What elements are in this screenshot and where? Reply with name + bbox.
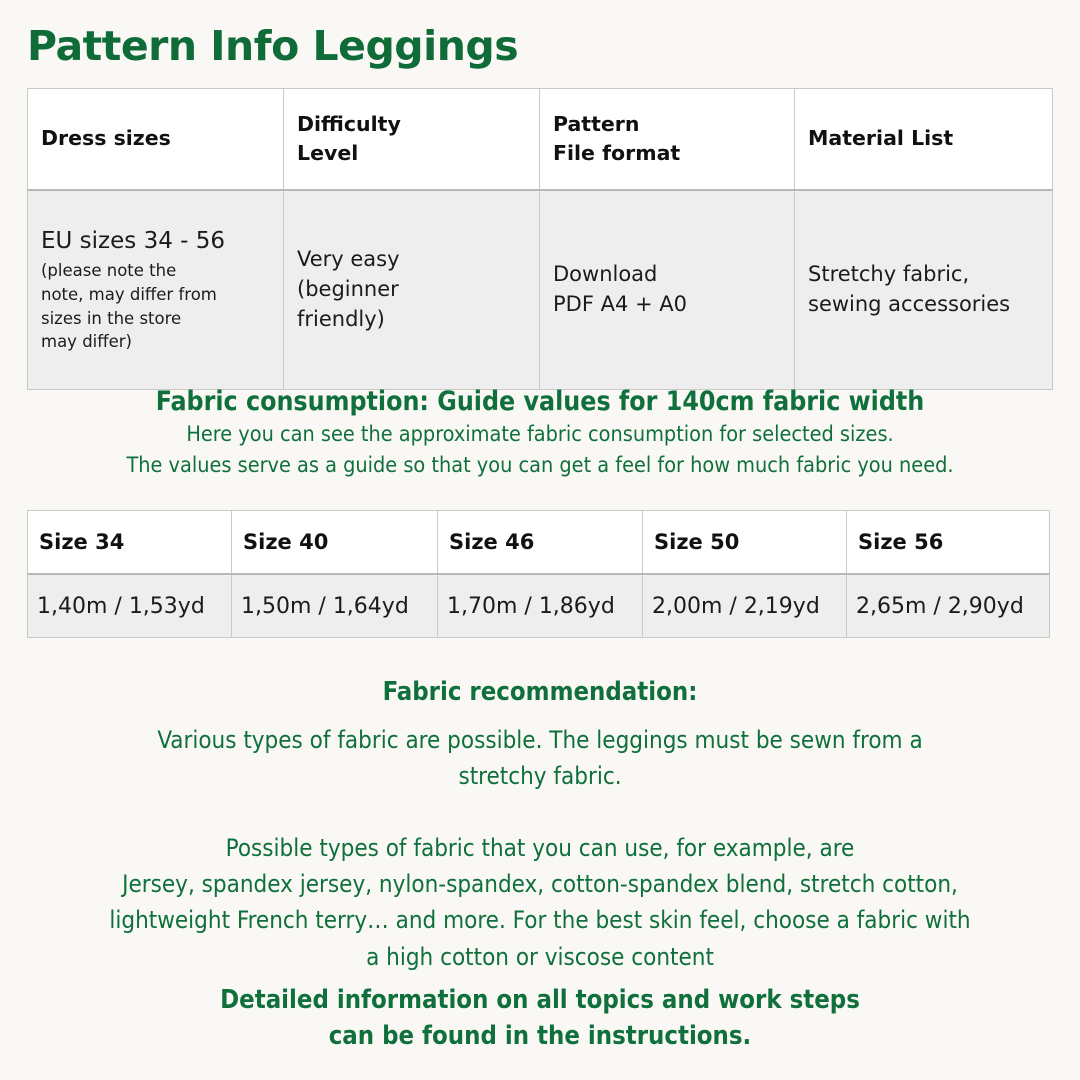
column-header-size-50: Size 50 xyxy=(643,511,847,575)
table-header-row: Size 34 Size 40 Size 46 Size 50 Size 56 xyxy=(28,511,1050,575)
column-header-pattern-file-format: Pattern File format xyxy=(540,89,795,191)
cell-pattern-file-format: Download PDF A4 + A0 xyxy=(540,190,795,390)
fabric-recommendation-line: Various types of fabric are possible. Th… xyxy=(0,722,1080,758)
column-header-dress-sizes: Dress sizes xyxy=(28,89,284,191)
cell-consumption-size-46: 1,70m / 1,86yd xyxy=(438,574,643,638)
closing-note-line: can be found in the instructions. xyxy=(0,1018,1080,1054)
column-header-size-46: Size 46 xyxy=(438,511,643,575)
pattern-info-table: Dress sizes Difficulty Level Pattern Fil… xyxy=(27,88,1053,390)
cell-material-list: Stretchy fabric, sewing accessories xyxy=(795,190,1053,390)
fabric-consumption-subtext: Here you can see the approximate fabric … xyxy=(0,420,1080,482)
column-header-size-34: Size 34 xyxy=(28,511,232,575)
cell-consumption-size-40: 1,50m / 1,64yd xyxy=(232,574,438,638)
fabric-recommendation-line: stretchy fabric. xyxy=(0,758,1080,794)
table-row: 1,40m / 1,53yd 1,50m / 1,64yd 1,70m / 1,… xyxy=(28,574,1050,638)
column-header-material-list: Material List xyxy=(795,89,1053,191)
pattern-info-page: Pattern Info Leggings Dress sizes Diffic… xyxy=(0,0,1080,1080)
fabric-consumption-subtext-line: The values serve as a guide so that you … xyxy=(0,451,1080,482)
fabric-types-body: Possible types of fabric that you can us… xyxy=(0,830,1080,975)
fabric-types-line: a high cotton or viscose content xyxy=(0,939,1080,975)
column-header-size-56: Size 56 xyxy=(847,511,1050,575)
fabric-types-line: Possible types of fabric that you can us… xyxy=(0,830,1080,866)
closing-note-line: Detailed information on all topics and w… xyxy=(0,982,1080,1018)
column-header-difficulty-level: Difficulty Level xyxy=(284,89,540,191)
cell-consumption-size-50: 2,00m / 2,19yd xyxy=(643,574,847,638)
closing-note: Detailed information on all topics and w… xyxy=(0,982,1080,1054)
column-header-size-40: Size 40 xyxy=(232,511,438,575)
cell-difficulty-level: Very easy (beginner friendly) xyxy=(284,190,540,390)
page-title: Pattern Info Leggings xyxy=(27,24,518,69)
table-row: EU sizes 34 - 56 (please note the note, … xyxy=(28,190,1053,390)
fabric-types-line: lightweight French terry… and more. For … xyxy=(0,902,1080,938)
cell-consumption-size-34: 1,40m / 1,53yd xyxy=(28,574,232,638)
fabric-consumption-subtext-line: Here you can see the approximate fabric … xyxy=(0,420,1080,451)
cell-dress-sizes: EU sizes 34 - 56 (please note the note, … xyxy=(28,190,284,390)
fabric-consumption-table: Size 34 Size 40 Size 46 Size 50 Size 56 … xyxy=(27,510,1050,638)
cell-consumption-size-56: 2,65m / 2,90yd xyxy=(847,574,1050,638)
fabric-consumption-heading: Fabric consumption: Guide values for 140… xyxy=(0,386,1080,417)
fabric-recommendation-body: Various types of fabric are possible. Th… xyxy=(0,722,1080,794)
fabric-types-line: Jersey, spandex jersey, nylon-spandex, c… xyxy=(0,866,1080,902)
fabric-recommendation-heading: Fabric recommendation: xyxy=(0,677,1080,707)
table-header-row: Dress sizes Difficulty Level Pattern Fil… xyxy=(28,89,1053,191)
